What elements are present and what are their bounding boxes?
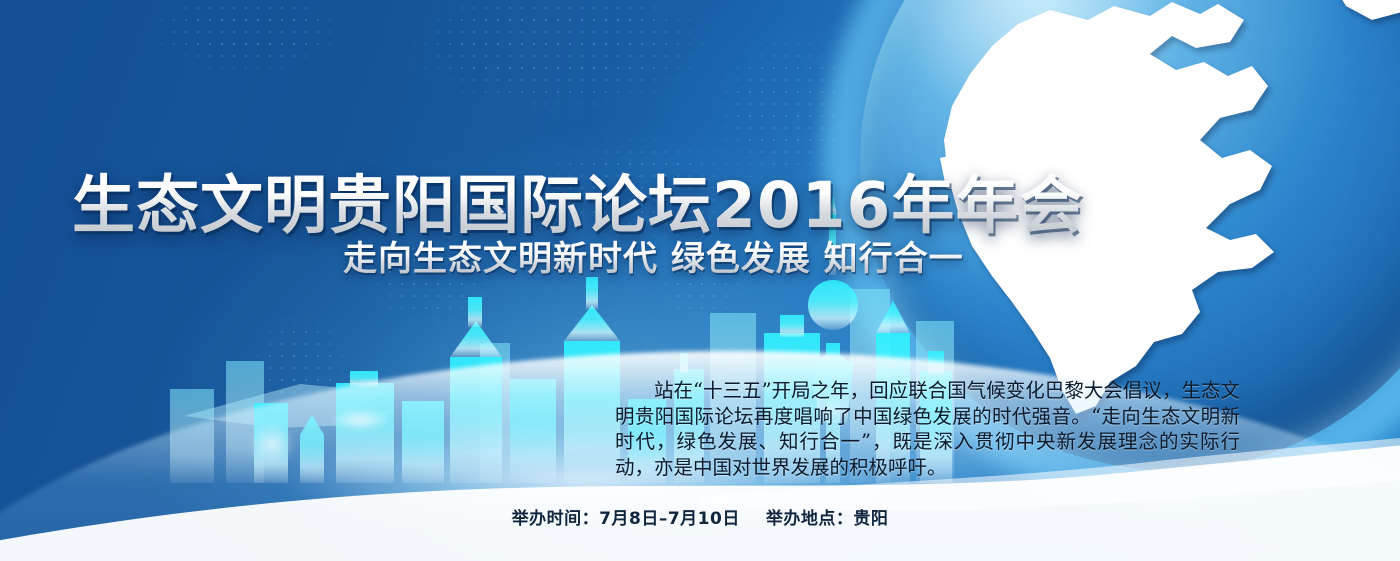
page-subtitle: 走向生态文明新时代 绿色发展 知行合一 [343,231,964,280]
event-meta-line: 举办时间：7月8日–7月10日举办地点：贵阳 [0,504,1400,529]
intro-paragraph: 站在“十三五”开局之年，回应联合国气候变化巴黎大会倡议，生态文明贵阳国际论坛再度… [615,378,1240,480]
event-place-value: 贵阳 [853,509,888,529]
event-place-label: 举办地点： [766,509,854,529]
event-time-value: 7月8日–7月10日 [599,509,740,529]
intro-paragraph-block: 站在“十三五”开局之年，回应联合国气候变化巴黎大会倡议，生态文明贵阳国际论坛再度… [615,378,1240,480]
event-time-label: 举办时间： [512,509,600,529]
event-banner: 生态文明贵阳国际论坛2016年年会 走向生态文明新时代 绿色发展 知行合一 站在… [0,0,1400,561]
